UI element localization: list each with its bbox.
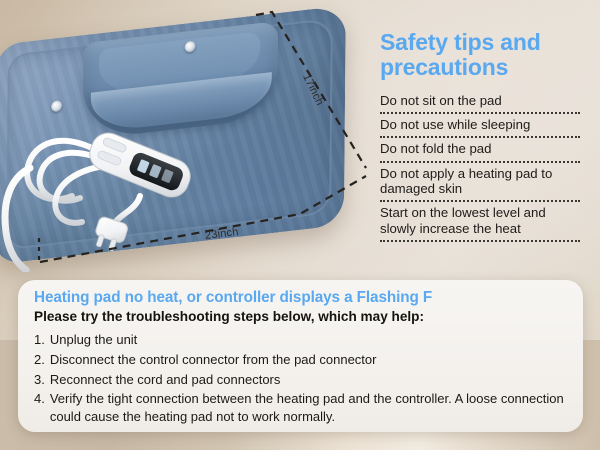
infographic-root: 23inch 17inch Safety tips and precaution… <box>0 0 600 450</box>
step-text: Reconnect the cord and pad connectors <box>50 371 567 389</box>
troubleshooting-step: 4. Verify the tight connection between t… <box>34 389 567 426</box>
troubleshooting-subtitle: Please try the troubleshooting steps bel… <box>34 309 567 326</box>
troubleshooting-steps: 1. Unplug the unit 2. Disconnect the con… <box>34 330 567 426</box>
safety-tips-title: Safety tips and precautions <box>380 30 580 80</box>
step-number: 4. <box>34 390 45 425</box>
step-text: Unplug the unit <box>50 331 567 349</box>
troubleshooting-step: 3. Reconnect the cord and pad connectors <box>34 370 567 390</box>
troubleshooting-step: 2. Disconnect the control connector from… <box>34 350 567 370</box>
step-text: Verify the tight connection between the … <box>50 390 567 425</box>
troubleshooting-step: 1. Unplug the unit <box>34 330 567 350</box>
step-number: 2. <box>34 351 45 369</box>
troubleshooting-panel: Heating pad no heat, or controller displ… <box>18 280 583 432</box>
step-number: 3. <box>34 371 45 389</box>
dimension-guides <box>0 0 380 276</box>
safety-tip-item: Do not sit on the pad <box>380 90 580 114</box>
step-text: Disconnect the control connector from th… <box>50 351 567 369</box>
safety-tip-item: Do not use while sleeping <box>380 114 580 138</box>
product-photo: 23inch 17inch <box>0 0 372 272</box>
safety-tip-item: Do not fold the pad <box>380 138 580 162</box>
safety-tip-item: Do not apply a heating pad to damaged sk… <box>380 163 580 203</box>
step-number: 1. <box>34 331 45 349</box>
safety-tip-item: Start on the lowest level and slowly inc… <box>380 202 580 242</box>
troubleshooting-title: Heating pad no heat, or controller displ… <box>34 289 567 307</box>
safety-tips-section: Safety tips and precautions Do not sit o… <box>380 30 580 242</box>
